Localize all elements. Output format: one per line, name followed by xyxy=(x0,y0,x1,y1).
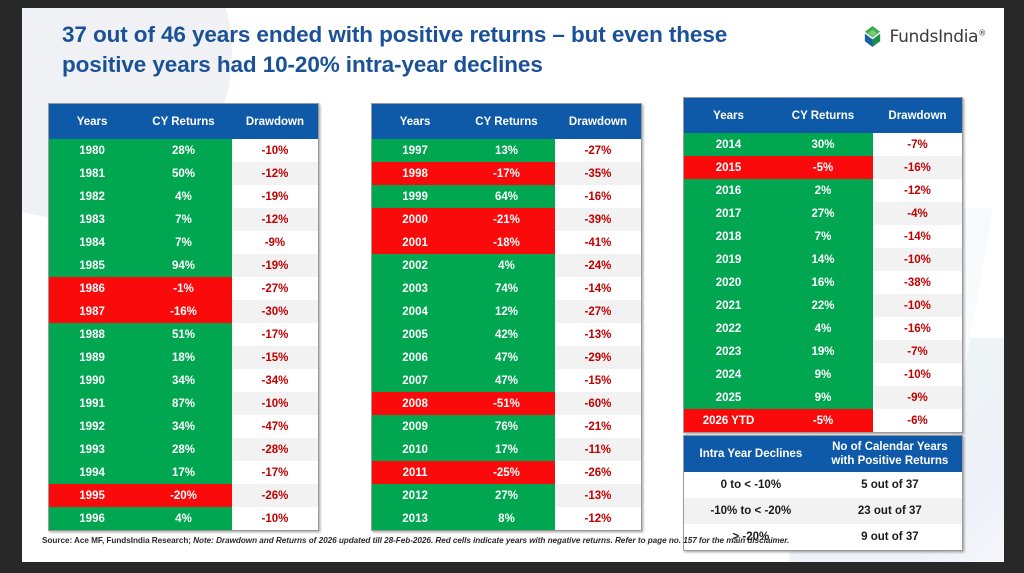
table-row: 201914%-10% xyxy=(684,248,962,271)
table-row: 201727%-4% xyxy=(684,202,962,225)
table-2: Years CY Returns Drawdown 199713%-27%199… xyxy=(372,104,641,530)
table-row: 200374%-14% xyxy=(372,277,641,300)
cell-cy-return: 2% xyxy=(773,179,873,202)
table-row: 199187%-10% xyxy=(49,392,318,415)
brand-trademark: ® xyxy=(978,28,986,37)
returns-table-3: Years CY Returns Drawdown 201430%-7%2015… xyxy=(683,97,963,433)
table-row: 199713%-27% xyxy=(372,139,641,162)
table-1: Years CY Returns Drawdown 198028%-10%198… xyxy=(49,104,318,530)
cell-year: 2013 xyxy=(372,507,458,530)
cell-cy-return: 14% xyxy=(773,248,873,271)
brand-name: FundsIndia® xyxy=(890,27,986,47)
cell-year: 1990 xyxy=(49,369,135,392)
cell-drawdown: -9% xyxy=(873,386,962,409)
cell-cy-return: 17% xyxy=(458,438,555,461)
cell-year: 2014 xyxy=(684,133,773,156)
footer-note: Source: Ace MF, FundsIndia Research; Not… xyxy=(42,536,982,545)
cell-cy-return: -51% xyxy=(458,392,555,415)
column-header-years: Years xyxy=(372,104,458,139)
table-row: 199328%-28% xyxy=(49,438,318,461)
cell-drawdown: -21% xyxy=(555,415,641,438)
cell-drawdown: -30% xyxy=(232,300,318,323)
cell-year: 1984 xyxy=(49,231,135,254)
page-title: 37 out of 46 years ended with positive r… xyxy=(62,20,862,79)
summary-column-header-years: No of Calendar Years with Positive Retur… xyxy=(818,436,962,472)
cell-year: 1983 xyxy=(49,208,135,231)
cell-year: 2005 xyxy=(372,323,458,346)
cell-year: 1987 xyxy=(49,300,135,323)
cell-year: 2019 xyxy=(684,248,773,271)
table-row: 2026 YTD-5%-6% xyxy=(684,409,962,432)
cell-year: 2006 xyxy=(372,346,458,369)
cell-drawdown: -10% xyxy=(873,294,962,317)
table-header-row: Years CY Returns Drawdown xyxy=(372,104,641,139)
column-header-drawdown: Drawdown xyxy=(232,104,318,139)
cell-cy-return: 64% xyxy=(458,185,555,208)
table-1-head: Years CY Returns Drawdown xyxy=(49,104,318,139)
cell-drawdown: -12% xyxy=(555,507,641,530)
cell-year: 1982 xyxy=(49,185,135,208)
cell-year: 1999 xyxy=(372,185,458,208)
summary-head: Intra Year Declines No of Calendar Years… xyxy=(684,436,962,472)
cell-year: 1996 xyxy=(49,507,135,530)
cell-drawdown: -10% xyxy=(232,139,318,162)
table-row: 202016%-38% xyxy=(684,271,962,294)
cell-year: 2017 xyxy=(684,202,773,225)
cell-cy-return: 4% xyxy=(135,507,232,530)
cell-drawdown: -27% xyxy=(232,277,318,300)
summary-table: Intra Year Declines No of Calendar Years… xyxy=(683,435,963,551)
cell-year: 2009 xyxy=(372,415,458,438)
cell-drawdown: -16% xyxy=(873,156,962,179)
table-row: 199234%-47% xyxy=(49,415,318,438)
cell-cy-return: 76% xyxy=(458,415,555,438)
cell-cy-return: 4% xyxy=(773,317,873,340)
table-row: 20259%-9% xyxy=(684,386,962,409)
cell-drawdown: -28% xyxy=(232,438,318,461)
cell-year: 1991 xyxy=(49,392,135,415)
table-2-head: Years CY Returns Drawdown xyxy=(372,104,641,139)
cell-year: 2011 xyxy=(372,461,458,484)
table-row: 19837%-12% xyxy=(49,208,318,231)
cell-cy-return: 4% xyxy=(458,254,555,277)
cell-drawdown: -16% xyxy=(873,317,962,340)
page-title-line-2: positive years had 10-20% intra-year dec… xyxy=(62,50,862,80)
table-row: 2011-25%-26% xyxy=(372,461,641,484)
cell-drawdown: -12% xyxy=(873,179,962,202)
cell-drawdown: -19% xyxy=(232,254,318,277)
table-row: 198594%-19% xyxy=(49,254,318,277)
cell-year: 1985 xyxy=(49,254,135,277)
cell-drawdown: -34% xyxy=(232,369,318,392)
cell-drawdown: -41% xyxy=(555,231,641,254)
table-row: 2001-18%-41% xyxy=(372,231,641,254)
cell-year: 1981 xyxy=(49,162,135,185)
footer-disclaimer: Note: Drawdown and Returns of 2026 updat… xyxy=(193,536,789,545)
cell-year: 2024 xyxy=(684,363,773,386)
cell-cy-return: 28% xyxy=(135,139,232,162)
table-row: 202319%-7% xyxy=(684,340,962,363)
table-row: 199417%-17% xyxy=(49,461,318,484)
cell-cy-return: -5% xyxy=(773,409,873,432)
cell-drawdown: -26% xyxy=(555,461,641,484)
cell-year: 1994 xyxy=(49,461,135,484)
table-row: 2015-5%-16% xyxy=(684,156,962,179)
cell-cy-return: 50% xyxy=(135,162,232,185)
table-row: 198150%-12% xyxy=(49,162,318,185)
cell-year: 1997 xyxy=(372,139,458,162)
cell-cy-return: -21% xyxy=(458,208,555,231)
cell-drawdown: -27% xyxy=(555,300,641,323)
table-row: 20187%-14% xyxy=(684,225,962,248)
cell-cy-return: -1% xyxy=(135,277,232,300)
cell-drawdown: -17% xyxy=(232,461,318,484)
cell-drawdown: -39% xyxy=(555,208,641,231)
cell-cy-return: 27% xyxy=(458,484,555,507)
slide-canvas: 37 out of 46 years ended with positive r… xyxy=(22,8,1004,562)
cell-cy-return: -25% xyxy=(458,461,555,484)
cell-drawdown: -13% xyxy=(555,484,641,507)
cell-year: 2010 xyxy=(372,438,458,461)
table-row: 199964%-16% xyxy=(372,185,641,208)
table-row: 2008-51%-60% xyxy=(372,392,641,415)
cell-year: 2025 xyxy=(684,386,773,409)
cell-cy-return: 9% xyxy=(773,386,873,409)
cell-year: 1992 xyxy=(49,415,135,438)
cell-drawdown: -6% xyxy=(873,409,962,432)
cell-year: 1993 xyxy=(49,438,135,461)
summary-column-header-declines: Intra Year Declines xyxy=(684,436,818,472)
column-header-cy-returns: CY Returns xyxy=(135,104,232,139)
cell-drawdown: -13% xyxy=(555,323,641,346)
table-row: 20138%-12% xyxy=(372,507,641,530)
cell-cy-return: 9% xyxy=(773,363,873,386)
cell-cy-return: 47% xyxy=(458,369,555,392)
summary-row: -10% to < -20%23 out of 37 xyxy=(684,498,962,524)
table-row: 19964%-10% xyxy=(49,507,318,530)
table-row: 200647%-29% xyxy=(372,346,641,369)
cell-year: 2007 xyxy=(372,369,458,392)
table-row: 20162%-12% xyxy=(684,179,962,202)
summary-header-line-1: No of Calendar Years xyxy=(832,441,947,453)
cell-cy-return: 94% xyxy=(135,254,232,277)
column-header-years: Years xyxy=(684,98,773,133)
cell-decline-band: 0 to < -10% xyxy=(684,472,818,498)
cell-year: 1998 xyxy=(372,162,458,185)
cell-cy-return: -20% xyxy=(135,484,232,507)
cell-drawdown: -7% xyxy=(873,133,962,156)
cell-drawdown: -14% xyxy=(555,277,641,300)
table-row: 202122%-10% xyxy=(684,294,962,317)
cell-cy-return: 7% xyxy=(773,225,873,248)
cell-drawdown: -17% xyxy=(232,323,318,346)
column-header-years: Years xyxy=(49,104,135,139)
cell-drawdown: -14% xyxy=(873,225,962,248)
table-header-row: Years CY Returns Drawdown xyxy=(684,98,962,133)
cell-year: 2026 YTD xyxy=(684,409,773,432)
column-header-cy-returns: CY Returns xyxy=(458,104,555,139)
cell-cy-return: 34% xyxy=(135,415,232,438)
cell-year: 1980 xyxy=(49,139,135,162)
table-row: 201227%-13% xyxy=(372,484,641,507)
cell-year: 2004 xyxy=(372,300,458,323)
cell-drawdown: -10% xyxy=(873,363,962,386)
table-row: 200412%-27% xyxy=(372,300,641,323)
fundsindia-logo-icon xyxy=(861,25,884,48)
cell-drawdown: -16% xyxy=(555,185,641,208)
table-row: 19847%-9% xyxy=(49,231,318,254)
summary-row: 0 to < -10%5 out of 37 xyxy=(684,472,962,498)
cell-cy-return: 28% xyxy=(135,438,232,461)
cell-drawdown: -12% xyxy=(232,162,318,185)
table-row: 20024%-24% xyxy=(372,254,641,277)
cell-year: 1989 xyxy=(49,346,135,369)
cell-drawdown: -9% xyxy=(232,231,318,254)
cell-drawdown: -10% xyxy=(873,248,962,271)
table-3-head: Years CY Returns Drawdown xyxy=(684,98,962,133)
table-1-body: 198028%-10%198150%-12%19824%-19%19837%-1… xyxy=(49,139,318,530)
cell-year: 2003 xyxy=(372,277,458,300)
cell-drawdown: -10% xyxy=(232,392,318,415)
cell-drawdown: -24% xyxy=(555,254,641,277)
cell-cy-return: 8% xyxy=(458,507,555,530)
table-3: Years CY Returns Drawdown 201430%-7%2015… xyxy=(684,98,962,432)
table-summary: Intra Year Declines No of Calendar Years… xyxy=(684,436,962,550)
cell-cy-return: 74% xyxy=(458,277,555,300)
column-header-drawdown: Drawdown xyxy=(555,104,641,139)
cell-cy-return: 7% xyxy=(135,231,232,254)
column-header-cy-returns: CY Returns xyxy=(773,98,873,133)
cell-year: 2000 xyxy=(372,208,458,231)
cell-cy-return: -18% xyxy=(458,231,555,254)
cell-year: 1995 xyxy=(49,484,135,507)
cell-cy-return: 87% xyxy=(135,392,232,415)
cell-cy-return: 42% xyxy=(458,323,555,346)
table-row: 1995-20%-26% xyxy=(49,484,318,507)
cell-positive-year-count: 5 out of 37 xyxy=(818,472,962,498)
cell-cy-return: -16% xyxy=(135,300,232,323)
cell-drawdown: -11% xyxy=(555,438,641,461)
cell-year: 2020 xyxy=(684,271,773,294)
cell-drawdown: -27% xyxy=(555,139,641,162)
cell-cy-return: 34% xyxy=(135,369,232,392)
cell-cy-return: 18% xyxy=(135,346,232,369)
cell-year: 2001 xyxy=(372,231,458,254)
cell-drawdown: -35% xyxy=(555,162,641,185)
cell-year: 2021 xyxy=(684,294,773,317)
table-row: 198918%-15% xyxy=(49,346,318,369)
cell-cy-return: 4% xyxy=(135,185,232,208)
brand-logo: FundsIndia® xyxy=(861,25,986,48)
cell-cy-return: 12% xyxy=(458,300,555,323)
column-header-drawdown: Drawdown xyxy=(873,98,962,133)
cell-decline-band: -10% to < -20% xyxy=(684,498,818,524)
cell-drawdown: -60% xyxy=(555,392,641,415)
cell-cy-return: -5% xyxy=(773,156,873,179)
table-header-row: Years CY Returns Drawdown xyxy=(49,104,318,139)
cell-year: 2002 xyxy=(372,254,458,277)
footer-source: Source: Ace MF, FundsIndia Research; xyxy=(42,536,193,545)
table-row: 20224%-16% xyxy=(684,317,962,340)
table-row: 201430%-7% xyxy=(684,133,962,156)
cell-drawdown: -15% xyxy=(555,369,641,392)
cell-cy-return: 47% xyxy=(458,346,555,369)
table-row: 20249%-10% xyxy=(684,363,962,386)
table-row: 198851%-17% xyxy=(49,323,318,346)
cell-drawdown: -7% xyxy=(873,340,962,363)
table-row: 201017%-11% xyxy=(372,438,641,461)
table-row: 200747%-15% xyxy=(372,369,641,392)
cell-year: 2022 xyxy=(684,317,773,340)
table-row: 198028%-10% xyxy=(49,139,318,162)
cell-cy-return: 51% xyxy=(135,323,232,346)
cell-drawdown: -29% xyxy=(555,346,641,369)
cell-drawdown: -10% xyxy=(232,507,318,530)
cell-year: 2008 xyxy=(372,392,458,415)
cell-year: 2012 xyxy=(372,484,458,507)
cell-year: 2015 xyxy=(684,156,773,179)
cell-drawdown: -19% xyxy=(232,185,318,208)
table-row: 1986-1%-27% xyxy=(49,277,318,300)
returns-table-2: Years CY Returns Drawdown 199713%-27%199… xyxy=(371,103,642,531)
cell-cy-return: 19% xyxy=(773,340,873,363)
cell-cy-return: 27% xyxy=(773,202,873,225)
summary-header-row: Intra Year Declines No of Calendar Years… xyxy=(684,436,962,472)
cell-drawdown: -47% xyxy=(232,415,318,438)
cell-drawdown: -15% xyxy=(232,346,318,369)
cell-year: 1986 xyxy=(49,277,135,300)
cell-year: 2016 xyxy=(684,179,773,202)
table-row: 19824%-19% xyxy=(49,185,318,208)
cell-cy-return: 30% xyxy=(773,133,873,156)
cell-drawdown: -38% xyxy=(873,271,962,294)
cell-cy-return: -17% xyxy=(458,162,555,185)
page-title-line-1: 37 out of 46 years ended with positive r… xyxy=(62,20,862,50)
cell-cy-return: 16% xyxy=(773,271,873,294)
cell-cy-return: 17% xyxy=(135,461,232,484)
table-row: 200542%-13% xyxy=(372,323,641,346)
cell-year: 2023 xyxy=(684,340,773,363)
cell-cy-return: 13% xyxy=(458,139,555,162)
summary-header-line-2: with Positive Returns xyxy=(831,455,948,467)
cell-drawdown: -4% xyxy=(873,202,962,225)
cell-cy-return: 7% xyxy=(135,208,232,231)
table-row: 2000-21%-39% xyxy=(372,208,641,231)
table-row: 1998-17%-35% xyxy=(372,162,641,185)
table-row: 199034%-34% xyxy=(49,369,318,392)
table-2-body: 199713%-27%1998-17%-35%199964%-16%2000-2… xyxy=(372,139,641,530)
cell-cy-return: 22% xyxy=(773,294,873,317)
cell-drawdown: -26% xyxy=(232,484,318,507)
cell-year: 1988 xyxy=(49,323,135,346)
table-row: 200976%-21% xyxy=(372,415,641,438)
table-row: 1987-16%-30% xyxy=(49,300,318,323)
returns-table-1: Years CY Returns Drawdown 198028%-10%198… xyxy=(48,103,319,531)
cell-drawdown: -12% xyxy=(232,208,318,231)
table-3-body: 201430%-7%2015-5%-16%20162%-12%201727%-4… xyxy=(684,133,962,432)
cell-year: 2018 xyxy=(684,225,773,248)
cell-positive-year-count: 23 out of 37 xyxy=(818,498,962,524)
